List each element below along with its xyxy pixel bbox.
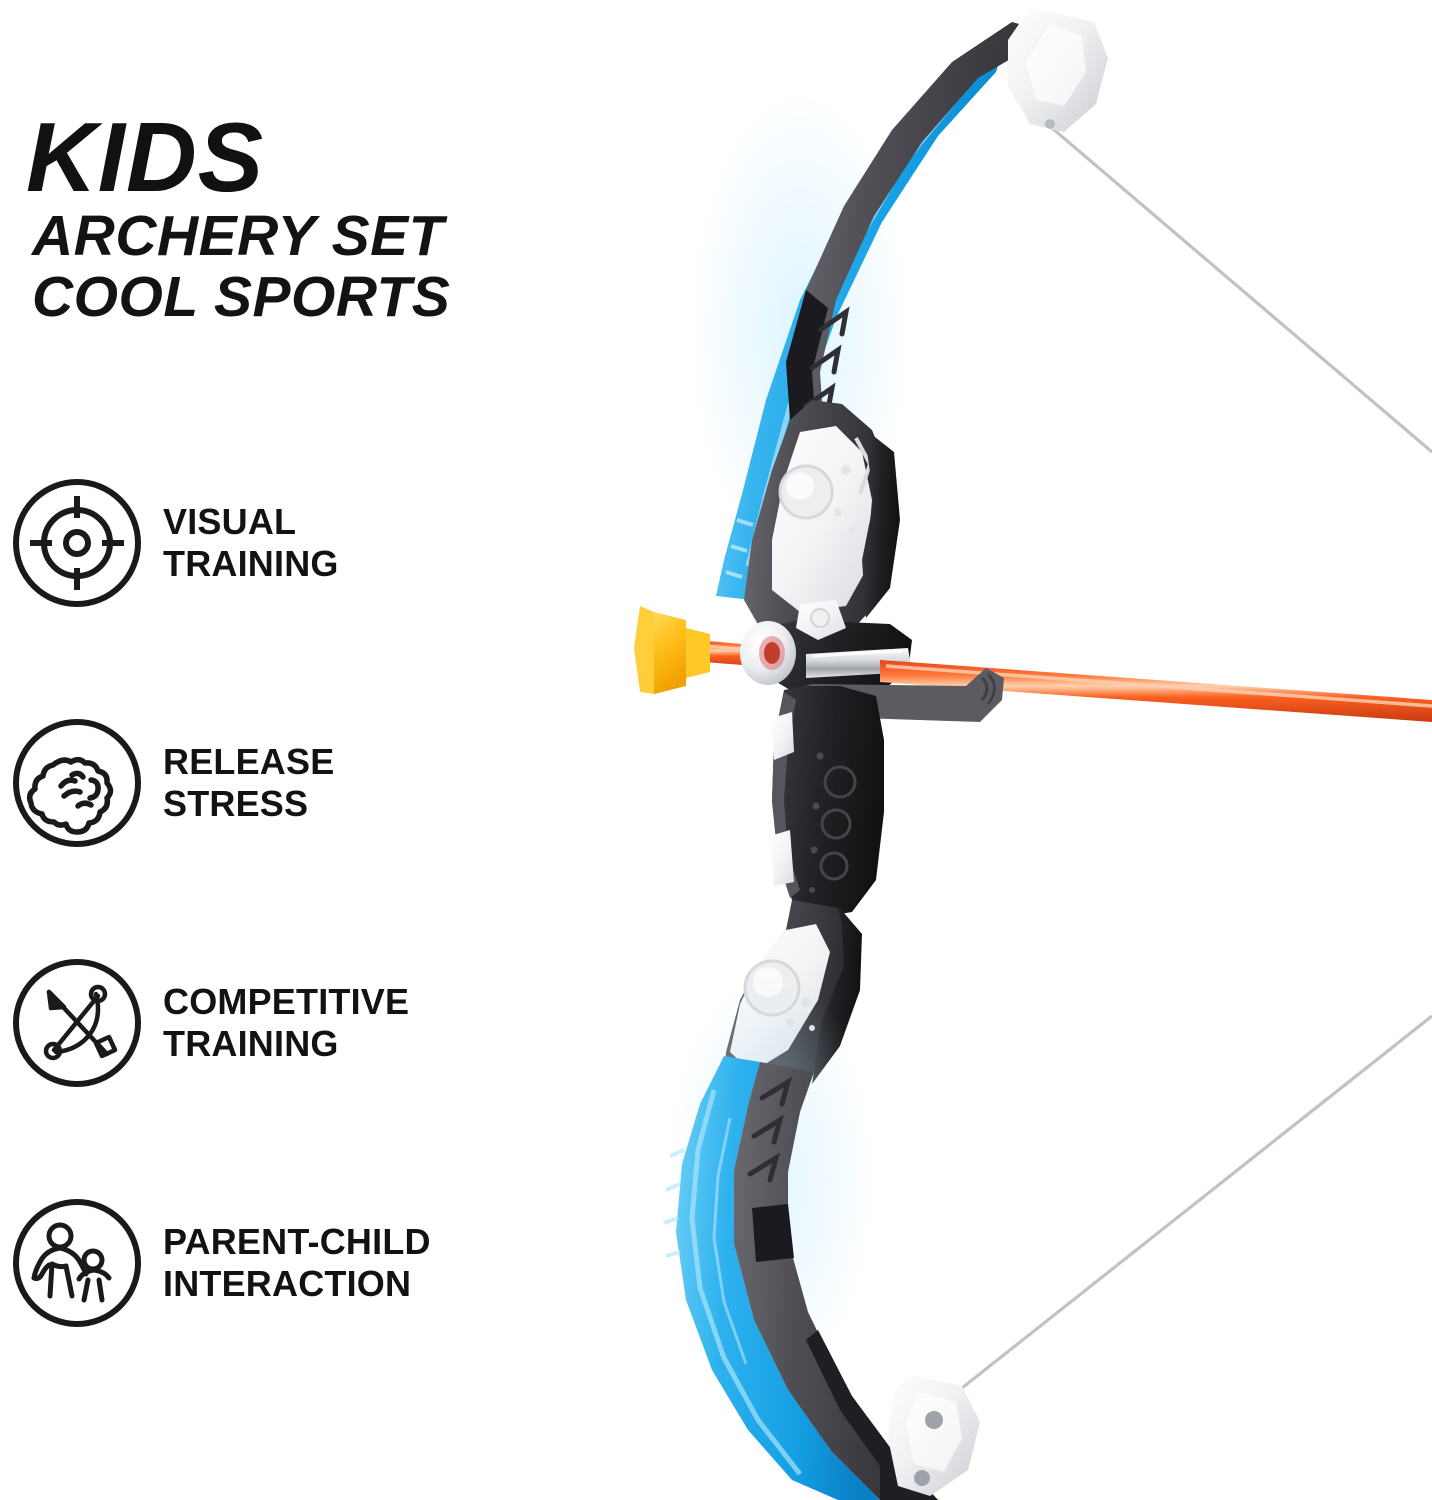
- feature-label-visual-training: VISUAL TRAINING: [163, 501, 339, 585]
- upper-limb-tip: [1008, 8, 1108, 132]
- feature-label-parent-child-interaction: PARENT-CHILD INTERACTION: [163, 1221, 431, 1305]
- bowstring-upper: [1052, 128, 1432, 452]
- feature-item-release-stress: RELEASE STRESS: [12, 718, 572, 848]
- riser-lower-white-plate: [730, 924, 830, 1072]
- headline-kids: KIDS: [26, 112, 626, 202]
- feature-item-visual-training: VISUAL TRAINING: [12, 478, 572, 608]
- riser-sight-window: [760, 620, 912, 690]
- arrow-support-arm: [790, 668, 1004, 722]
- headline-subtitle: ARCHERY SET COOL SPORTS: [32, 206, 626, 327]
- product-marketing-image: KIDS ARCHERY SET COOL SPORTS VISU: [0, 0, 1432, 1500]
- arrow-rail-chrome: [806, 648, 912, 678]
- feature-list: VISUAL TRAINING: [12, 478, 572, 1328]
- riser-upper-white-plate: [772, 426, 872, 612]
- bow-grip: [772, 686, 884, 918]
- crosshair-target-icon: [12, 478, 142, 608]
- upper-limb-blue: [716, 40, 1006, 600]
- upper-limb-dark-accent: [786, 290, 828, 452]
- feature-line-1: RELEASE: [163, 741, 334, 782]
- feature-line-2: TRAINING: [163, 1023, 409, 1065]
- lower-limb-tip: [888, 1374, 980, 1496]
- brain-icon: [12, 718, 142, 848]
- bowstring-lower: [962, 1016, 1432, 1388]
- riser-lower-dark-blade: [812, 906, 862, 1084]
- riser-lower-emblem: [745, 961, 799, 1015]
- grip-white-insert-upper: [772, 712, 794, 760]
- feature-line-1: COMPETITIVE: [163, 981, 409, 1022]
- grip-left-edge: [772, 692, 800, 898]
- arrow-shaft-left: [676, 638, 784, 668]
- lower-limb-blue: [676, 1056, 880, 1500]
- feature-line-2: TRAINING: [163, 543, 339, 585]
- lower-limb-dark-face: [806, 1330, 938, 1500]
- riser-upper-dark-blade: [862, 430, 900, 618]
- feature-line-2: INTERACTION: [163, 1263, 431, 1305]
- headline-line-archery-set: ARCHERY SET: [32, 206, 626, 266]
- riser-upper-frame: [744, 400, 890, 640]
- feature-line-1: PARENT-CHILD: [163, 1221, 431, 1262]
- headline-block: KIDS ARCHERY SET COOL SPORTS: [26, 112, 626, 327]
- feature-label-release-stress: RELEASE STRESS: [163, 741, 334, 825]
- feature-label-competitive-training: COMPETITIVE TRAINING: [163, 981, 409, 1065]
- feature-item-competitive-training: COMPETITIVE TRAINING: [12, 958, 572, 1088]
- headline-line-cool-sports: COOL SPORTS: [32, 267, 626, 327]
- arrow-shaft-right: [880, 660, 1432, 722]
- arrow-suction-tip: [634, 606, 710, 694]
- upper-limb-spine: [786, 22, 1064, 452]
- parent-child-icon: [12, 1198, 142, 1328]
- feature-item-parent-child-interaction: PARENT-CHILD INTERACTION: [12, 1198, 572, 1328]
- feature-line-1: VISUAL: [163, 501, 296, 542]
- bow-and-arrow-icon: [12, 958, 142, 1088]
- riser-lower-frame: [722, 900, 854, 1112]
- lower-limb-spine: [734, 1062, 938, 1500]
- riser-upper-emblem: [780, 466, 832, 518]
- arrow-rest-ball: [740, 621, 796, 685]
- grip-white-insert-lower: [770, 830, 794, 886]
- grip-detail-dots: [821, 767, 855, 879]
- sight-white-accent: [796, 600, 846, 640]
- lower-limb-dark-accent: [752, 1204, 794, 1262]
- feature-line-2: STRESS: [163, 783, 334, 825]
